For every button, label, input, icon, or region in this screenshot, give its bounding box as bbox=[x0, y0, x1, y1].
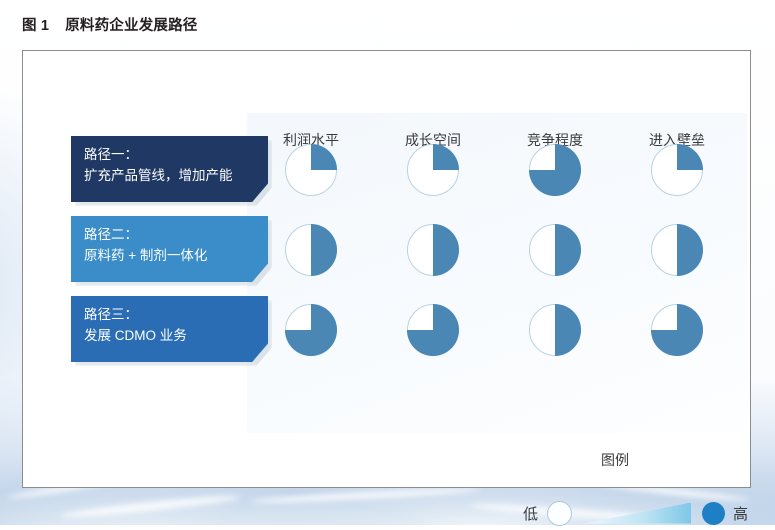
pie-wedge bbox=[285, 304, 337, 356]
pie-r2-c3 bbox=[529, 224, 581, 276]
cloud-streak bbox=[60, 493, 240, 521]
legend-low-label: 低 bbox=[523, 503, 538, 524]
pie-wedge bbox=[529, 224, 581, 276]
pie-wedge bbox=[651, 144, 703, 196]
path-banner-line1: 路径二： bbox=[84, 225, 268, 246]
legend-low-circle-icon bbox=[547, 501, 572, 526]
pie-r1-c2 bbox=[407, 144, 459, 196]
legend-gradient-ramp bbox=[584, 503, 691, 524]
legend-high-label: 高 bbox=[733, 503, 748, 524]
pie-r2-c4 bbox=[651, 224, 703, 276]
figure-panel: 利润水平成长空间竞争程度进入壁垒 路径一：扩充产品管线，增加产能路径二：原料药 … bbox=[22, 50, 751, 488]
pie-wedge bbox=[407, 224, 459, 276]
pie-wedge bbox=[285, 224, 337, 276]
legend-high-circle-icon bbox=[702, 502, 725, 525]
figure-title-text: 原料药企业发展路径 bbox=[65, 18, 197, 34]
path-banner-line1: 路径三： bbox=[84, 305, 268, 326]
path-banner-line1: 路径一： bbox=[84, 145, 268, 166]
pie-wedge bbox=[651, 224, 703, 276]
pie-wedge bbox=[407, 144, 459, 196]
pie-r3-c4 bbox=[651, 304, 703, 356]
path-banner-line2: 原料药 + 制剂一体化 bbox=[84, 246, 268, 267]
figure-number: 图 1 bbox=[22, 18, 49, 34]
path-banner-2[interactable]: 路径二：原料药 + 制剂一体化 bbox=[71, 216, 268, 282]
cloud-streak bbox=[250, 486, 480, 505]
path-banner-1[interactable]: 路径一：扩充产品管线，增加产能 bbox=[71, 136, 268, 202]
pie-r3-c3 bbox=[529, 304, 581, 356]
pie-wedge bbox=[529, 304, 581, 356]
pie-r1-c4 bbox=[651, 144, 703, 196]
pie-r1-c3 bbox=[529, 144, 581, 196]
path-banner-line2: 扩充产品管线，增加产能 bbox=[84, 166, 268, 187]
pie-r3-c2 bbox=[407, 304, 459, 356]
pie-r2-c1 bbox=[285, 224, 337, 276]
figure-title: 图 1原料药企业发展路径 bbox=[22, 14, 198, 35]
path-banner-3[interactable]: 路径三：发展 CDMO 业务 bbox=[71, 296, 268, 362]
legend-title: 图例 bbox=[601, 450, 629, 470]
path-banner-line2: 发展 CDMO 业务 bbox=[84, 326, 268, 347]
pie-r1-c1 bbox=[285, 144, 337, 196]
pie-wedge bbox=[285, 144, 337, 196]
pie-wedge bbox=[529, 144, 581, 196]
pie-wedge bbox=[651, 304, 703, 356]
pie-wedge bbox=[407, 304, 459, 356]
pie-r2-c2 bbox=[407, 224, 459, 276]
pie-r3-c1 bbox=[285, 304, 337, 356]
